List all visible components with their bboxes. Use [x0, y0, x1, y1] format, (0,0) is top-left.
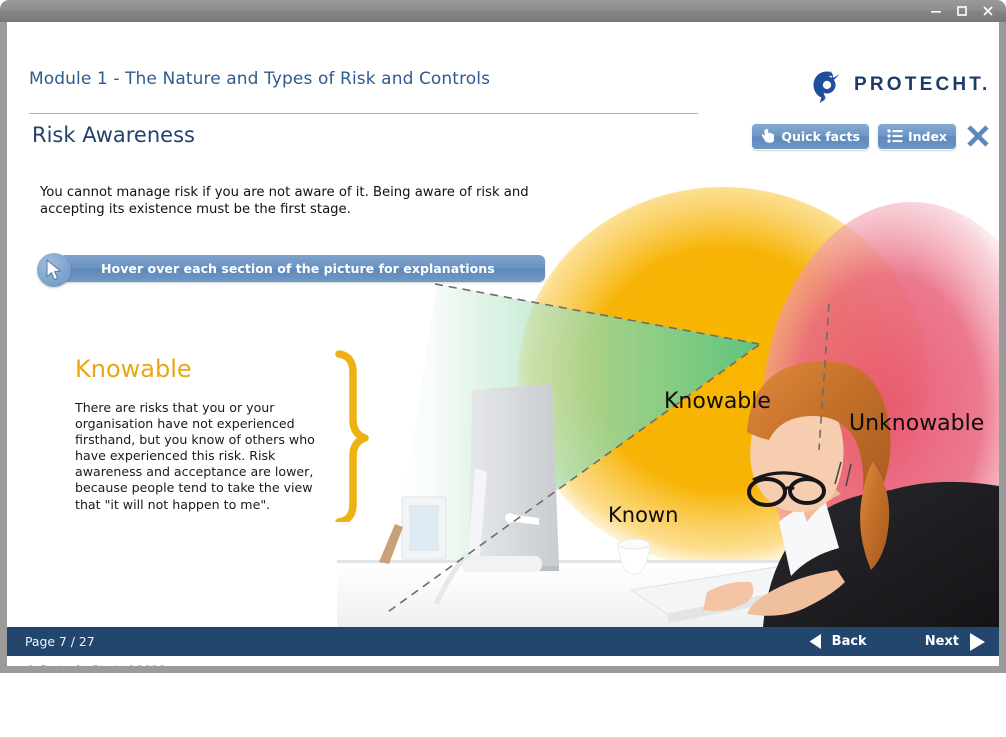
cursor-badge [37, 253, 71, 287]
curly-brace-icon [329, 350, 369, 522]
back-button[interactable]: Back [806, 632, 867, 651]
close-x-icon [965, 123, 991, 149]
explanation-title: Knowable [75, 355, 192, 383]
zone-label-unknowable[interactable]: Unknowable [849, 411, 984, 436]
protecht-logo: PROTECHT. [809, 66, 985, 104]
header-divider [29, 113, 698, 114]
list-icon [887, 129, 903, 143]
window-title-bar[interactable] [0, 0, 1006, 22]
index-label: Index [908, 129, 947, 144]
window-controls [924, 0, 1000, 22]
minimize-button[interactable] [924, 1, 948, 21]
page-title: Risk Awareness [32, 123, 195, 147]
nav-buttons: Back Next [806, 631, 999, 653]
back-label: Back [832, 634, 867, 649]
module-title: Module 1 - The Nature and Types of Risk … [29, 69, 490, 89]
close-window-button[interactable] [976, 1, 1000, 21]
page-total: 27 [79, 634, 95, 649]
quick-facts-label: Quick facts [781, 129, 860, 144]
next-label: Next [925, 634, 959, 649]
course-page: Knowable Unknowable Known Module 1 - The… [7, 22, 999, 666]
illustration-canvas [7, 162, 999, 627]
index-button[interactable]: Index [877, 123, 957, 150]
close-course-button[interactable] [964, 123, 991, 150]
protecht-swirl-icon [809, 67, 845, 103]
page-separator: / [71, 634, 75, 649]
zone-label-known[interactable]: Known [608, 503, 678, 527]
copyright-text: © Protecht Pty Ltd 2012 [25, 663, 166, 666]
application-window: Knowable Unknowable Known Module 1 - The… [0, 0, 1006, 673]
page-toolbar: Quick facts Index [751, 123, 991, 149]
page-navigation-bar: Page 7 / 27 Back Next [7, 627, 999, 656]
intro-paragraph: You cannot manage risk if you are not aw… [40, 184, 552, 218]
next-button[interactable]: Next [925, 631, 989, 653]
mouse-cursor-icon [44, 259, 64, 281]
quick-facts-button[interactable]: Quick facts [751, 123, 870, 150]
zone-label-knowable[interactable]: Knowable [664, 389, 771, 414]
triangle-right-icon [966, 631, 989, 653]
protecht-wordmark: PROTECHT. [854, 74, 990, 96]
hover-hint-label: Hover over each section of the picture f… [101, 261, 495, 276]
page-label: Page 7 [25, 634, 67, 649]
pointing-hand-icon [761, 128, 776, 144]
hover-hint-pill[interactable]: Hover over each section of the picture f… [59, 255, 545, 282]
hover-hint[interactable]: Hover over each section of the picture f… [37, 255, 545, 282]
page-counter: Page 7 / 27 [25, 634, 95, 649]
maximize-button[interactable] [950, 1, 974, 21]
risk-awareness-illustration[interactable]: Knowable Unknowable Known [7, 162, 999, 627]
triangle-left-icon [806, 632, 825, 651]
explanation-body: There are risks that you or your organis… [75, 400, 337, 513]
